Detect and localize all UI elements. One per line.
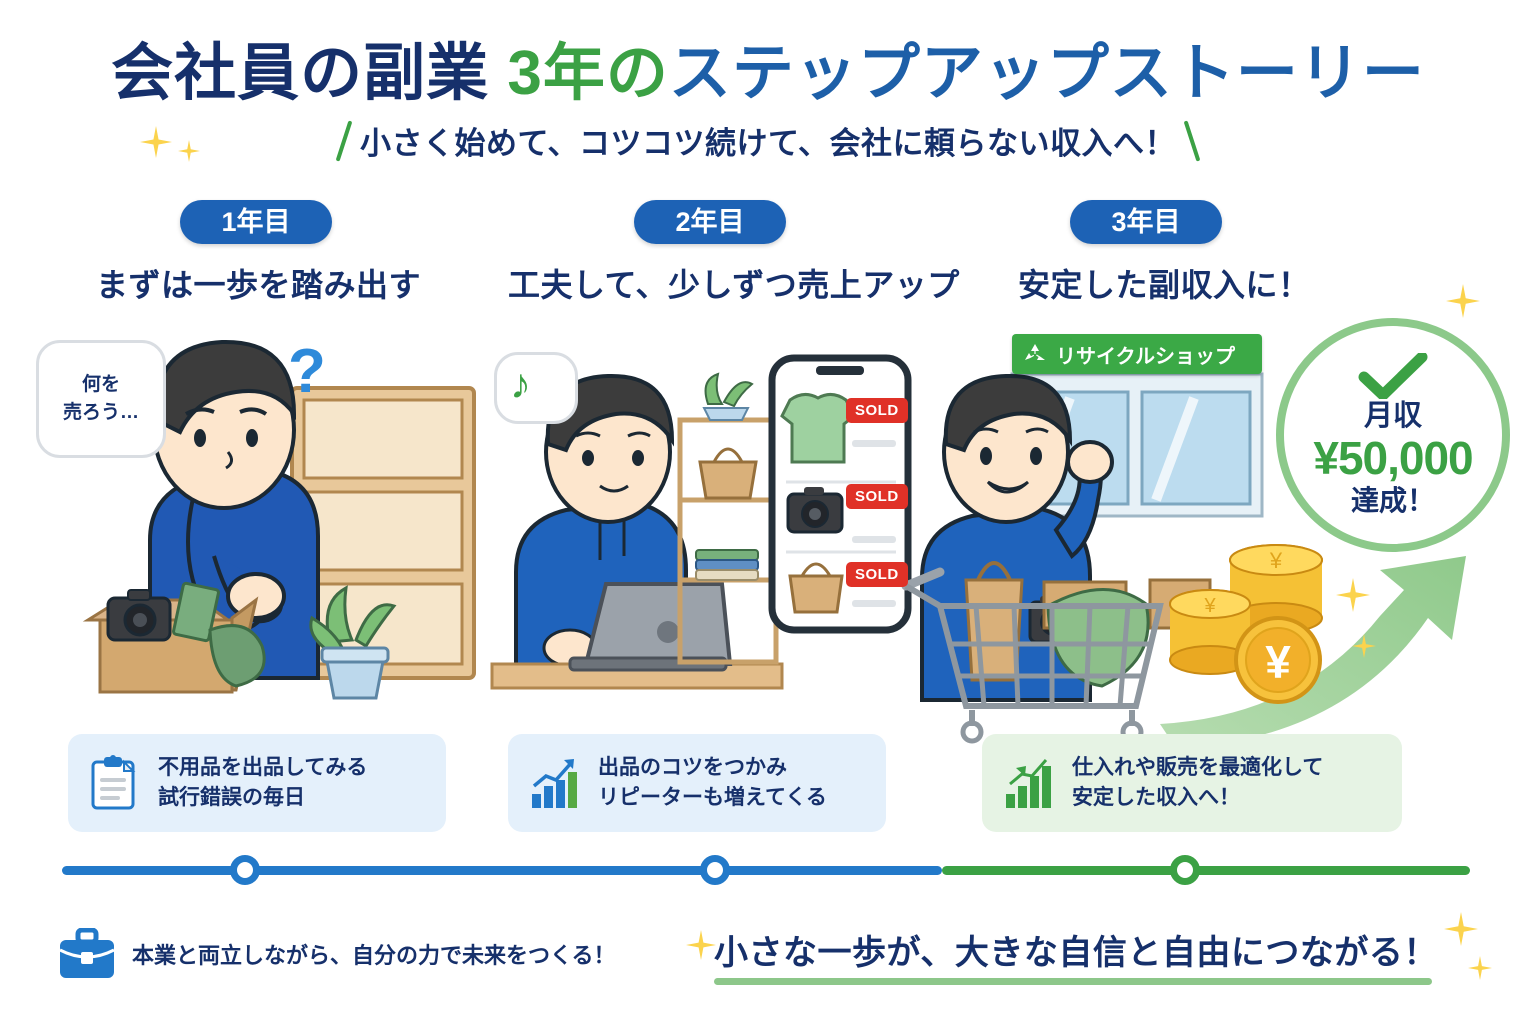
svg-text:¥: ¥ <box>1269 548 1283 573</box>
sparkle-icon <box>1446 284 1480 318</box>
person-3-illustration <box>922 376 1112 700</box>
laptop-illustration <box>570 584 730 670</box>
infographic-canvas: 会社員の副業 3年のステップアップストーリー 小さく始めて、コツコツ続けて、会社… <box>0 0 1536 1024</box>
card-2-line-2: リピーターも増えてくる <box>598 786 827 809</box>
coins-illustration: ¥ ¥ ¥ <box>1170 545 1322 702</box>
svg-text:¥: ¥ <box>1203 595 1216 617</box>
subtitle-row: 小さく始めて、コツコツ続けて、会社に頼らない収入へ！ <box>0 118 1536 163</box>
year-badge-2: 2年目 <box>634 200 786 244</box>
card-3-line-1: 仕入れや販売を最適化して <box>1072 756 1323 779</box>
card-1-line-2: 試行錯誤の毎日 <box>158 786 305 809</box>
sold-badge: SOLD <box>846 562 908 587</box>
footer-right: 小さな一歩が、大きな自信と自由につながる！ <box>714 925 1438 985</box>
speech-bubble-2 <box>494 352 578 424</box>
timeline-node-2 <box>700 855 730 885</box>
year-badge-3: 3年目 <box>1070 200 1222 244</box>
bookshelf-illustration <box>292 388 474 678</box>
clipboard-icon <box>88 754 142 812</box>
speech-bubble-1-text: 何を 売ろう… <box>63 371 139 428</box>
shopping-cart-illustration <box>906 563 1160 741</box>
column-year-2: 2年目 工夫して、少しずつ売上アップ <box>500 200 940 306</box>
shop-sign: リサイクルショップ <box>1012 334 1262 374</box>
column-year-3: 3年目 安定した副収入に！ <box>960 200 1430 306</box>
recycle-icon <box>1022 342 1048 366</box>
check-icon <box>1358 353 1428 399</box>
footer-right-text: 小さな一歩が、大きな自信と自由につながる！ <box>714 925 1438 974</box>
speech-bubble-1: 何を 売ろう… <box>36 340 166 458</box>
footer-underline <box>714 978 1432 985</box>
slash-right-decoration <box>1184 120 1201 161</box>
summary-card-3-text: 仕入れや販売を最適化して 安定した収入へ！ <box>1072 753 1323 814</box>
growth-chart-icon <box>528 754 582 812</box>
summary-card-2: 出品のコツをつかみ リピーターも増えてくる <box>508 734 886 832</box>
sold-badge: SOLD <box>846 398 908 423</box>
title-part-2: 3年の <box>507 39 668 108</box>
slash-left-decoration <box>336 120 353 161</box>
page-title: 会社員の副業 3年のステップアップストーリー <box>0 22 1536 112</box>
briefcase-icon <box>58 928 116 980</box>
bubble-line-1: 何を <box>82 374 120 395</box>
card-2-line-1: 出品のコツをつかみ <box>598 756 787 779</box>
timeline-node-1 <box>230 855 260 885</box>
achievement-badge: 月収 ¥50,000 達成！ <box>1276 318 1510 552</box>
title-part-3: ステップアップストーリー <box>669 39 1425 108</box>
page-subtitle: 小さく始めて、コツコツ続けて、会社に頼らない収入へ！ <box>360 118 1176 163</box>
sold-badge: SOLD <box>846 484 908 509</box>
shelf-2-illustration <box>680 374 776 662</box>
sparkle-icon <box>1444 912 1478 946</box>
cardboard-box-illustration <box>88 583 264 692</box>
year-heading-2: 工夫して、少しずつ売上アップ <box>500 260 940 306</box>
summary-card-1-text: 不用品を出品してみる 試行錯誤の毎日 <box>158 753 367 814</box>
bubble-line-2: 売ろう… <box>63 402 139 423</box>
title-part-1: 会社員の副業 <box>111 39 489 108</box>
potted-plant-illustration <box>311 588 394 698</box>
svg-text:¥: ¥ <box>1265 636 1291 688</box>
card-3-line-2: 安定した収入へ！ <box>1072 786 1240 809</box>
shop-building-illustration <box>1012 374 1262 640</box>
sparkle-icon <box>1336 578 1370 612</box>
sparkle-icon <box>1468 956 1492 980</box>
year-heading-1: まずは一歩を踏み出す <box>60 260 490 306</box>
timeline-node-3 <box>1170 855 1200 885</box>
sparkle-icon <box>1352 634 1376 658</box>
achievement-amount: ¥50,000 <box>1313 432 1472 485</box>
summary-card-1: 不用品を出品してみる 試行錯誤の毎日 <box>68 734 446 832</box>
footer-left: 本業と両立しながら、自分の力で未来をつくる！ <box>58 928 616 980</box>
timeline-blue-segment <box>62 866 942 875</box>
achievement-line-1: 月収 <box>1364 401 1422 433</box>
music-note-icon: ♪ <box>510 360 531 408</box>
sparkle-icon <box>686 930 716 960</box>
card-1-line-1: 不用品を出品してみる <box>158 756 367 779</box>
footer-left-text: 本業と両立しながら、自分の力で未来をつくる！ <box>132 938 616 970</box>
timeline-green-segment <box>942 866 1470 875</box>
year-heading-3: 安定した副収入に！ <box>960 260 1430 306</box>
year-badge-1: 1年目 <box>180 200 332 244</box>
growth-arrow-illustration <box>1160 556 1466 748</box>
achievement-line-3: 達成！ <box>1351 485 1435 517</box>
summary-card-3: 仕入れや販売を最適化して 安定した収入へ！ <box>982 734 1402 832</box>
bar-chart-icon <box>1002 754 1056 812</box>
column-year-1: 1年目 まずは一歩を踏み出す <box>60 200 490 306</box>
desk-illustration <box>492 664 782 688</box>
shop-sign-label: リサイクルショップ <box>1056 340 1235 369</box>
summary-card-2-text: 出品のコツをつかみ リピーターも増えてくる <box>598 753 827 814</box>
question-mark-icon: ? <box>288 336 326 407</box>
